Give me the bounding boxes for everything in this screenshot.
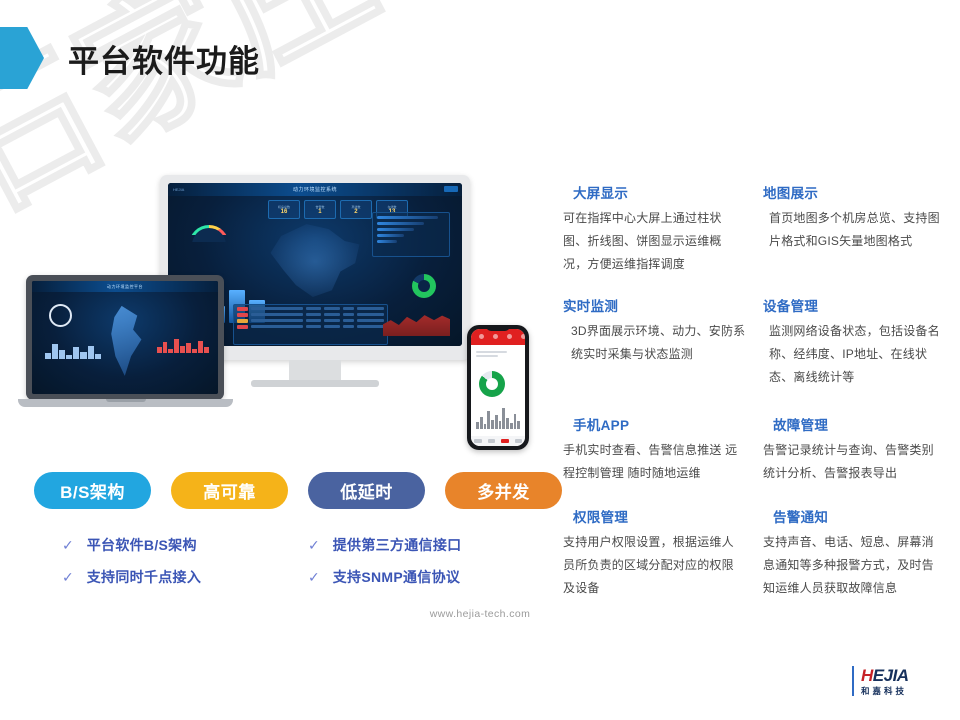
device-mockups: HEJIA 动力环境监控系统 机房总数 16 告警数 1 [10,175,550,460]
logo-wordmark: HEJIA [861,667,909,684]
feature-body: 首页地图多个机房总览、支持图片格式和GIS矢量地图格式 [769,207,947,253]
feature-column-right: 地图展示 首页地图多个机房总览、支持图片格式和GIS矢量地图格式 设备管理 监测… [763,182,953,609]
pill-label: 高可靠 [203,478,256,503]
website-url: www.hejia-tech.com [0,608,960,620]
check-icon: ✓ [62,538,74,552]
dashboard-fullscreen-button[interactable] [444,186,458,192]
kpi-value: 2 [354,209,357,215]
arrow-marker-icon [0,27,44,89]
app-line-chart [476,407,520,429]
checklist-label: 平台软件B/S架构 [87,535,197,555]
feature-title: 手机APP [573,414,763,434]
app-donut-chart [479,371,505,397]
feature-body: 监测网络设备状态，包括设备名称、经纬度、IP地址、在线状态、离线统计等 [769,320,947,389]
table-row [237,325,384,329]
checklist-label: 支持同时千点接入 [87,567,201,587]
region-map-graphic [101,306,153,376]
company-logo: HEJIA 和嘉科技 [852,666,909,696]
feature-column-left: 大屏显示 可在指挥中心大屏上通过柱状图、折线图、饼图显示运维概况，方便运维指挥调… [563,182,763,609]
list-item: ✓ 支持SNMP通信协议 [308,567,522,587]
feature-title: 实时监测 [563,295,763,315]
app-info-rows [476,351,520,359]
dashboard-title: 动力环境监控系统 [293,186,337,193]
pill-label: 低延时 [340,478,393,503]
feature-columns: 大屏显示 可在指挥中心大屏上通过柱状图、折线图、饼图显示运维概况，方便运维指挥调… [563,182,953,609]
check-icon: ✓ [308,538,320,552]
china-map-graphic [262,219,368,304]
feature-alarm-notification: 告警通知 支持声音、电话、短息、屏幕消息通知等多种报警方式，及时告知运维人员获取… [763,506,953,600]
dashboard-title: 动力环境监控平台 [107,284,143,290]
feature-title: 告警通知 [773,506,953,526]
list-item: ✓ 平台软件B/S架构 [62,535,276,555]
dashboard-laptop: 动力环境监控平台 [32,281,218,394]
alarm-trend-chart [157,338,209,354]
slide-header: 平台软件功能 [0,28,260,88]
feature-fault-management: 故障管理 告警记录统计与查询、告警类别统计分析、告警报表导出 [763,414,953,497]
logo-text: HEJIA 和嘉科技 [861,667,909,696]
slide-root: 石家庄和嘉科技有限公司 平台软件功能 HEJIA 动力环境监控系统 [0,0,960,720]
app-header [471,329,525,345]
ring-gauge [49,304,72,327]
feature-body: 告警记录统计与查询、告警类别统计分析、告警报表导出 [763,439,941,485]
donut-chart [412,274,436,298]
feature-body: 3D界面展示环境、动力、安防系统实时采集与状态监测 [571,320,751,366]
pill-label: B/S架构 [60,478,125,503]
histogram-chart [45,340,101,359]
smartphone [467,325,529,450]
laptop-screen: 动力环境监控平台 [32,281,218,394]
table-row [237,307,384,311]
feature-body: 支持用户权限设置，根据运维人员所负责的区域分配对应的权限及设备 [563,531,743,600]
feature-body: 手机实时查看、告警信息推送 远程控制管理 随时随地运维 [563,439,743,485]
feature-title: 大屏显示 [573,182,763,202]
feature-map-display: 地图展示 首页地图多个机房总览、支持图片格式和GIS矢量地图格式 [763,182,953,286]
list-item: ✓ 支持同时千点接入 [62,567,276,587]
list-item: ✓ 提供第三方通信接口 [308,535,522,555]
app-tabbar[interactable] [471,436,525,446]
feature-title: 地图展示 [763,182,953,202]
dashboard-topbar: 动力环境监控平台 [32,281,218,292]
feature-mobile-app: 手机APP 手机实时查看、告警信息推送 远程控制管理 随时随地运维 [563,414,763,497]
ranking-panel [372,212,450,256]
phone-notch [486,325,510,331]
feature-pills: B/S架构 高可靠 低延时 多并发 [34,472,562,509]
kpi-value: 16 [281,209,288,215]
pill-bs-architecture[interactable]: B/S架构 [34,472,151,509]
monitor-stand [289,360,341,382]
phone-screen [471,329,525,446]
check-icon: ✓ [62,570,74,584]
feature-title: 故障管理 [773,414,953,434]
pill-low-latency[interactable]: 低延时 [308,472,425,509]
laptop-notch [106,399,146,402]
feature-body: 支持声音、电话、短息、屏幕消息通知等多种报警方式，及时告知运维人员获取故障信息 [763,531,941,600]
logo-rest-letters: EJIA [873,666,909,685]
kpi-card: 机房总数 16 [268,200,300,219]
area-chart [383,307,451,336]
kpi-value: 1 [318,209,321,215]
kpi-card: 告警数 1 [304,200,336,219]
pill-high-concurrency[interactable]: 多并发 [445,472,562,509]
monitor-base [251,380,379,387]
page-title: 平台软件功能 [68,36,260,81]
table-row [237,319,384,323]
feature-title: 设备管理 [763,295,953,315]
logo-divider [852,666,854,696]
gauge-chart [189,225,229,245]
logo-subtitle: 和嘉科技 [861,687,909,696]
check-icon: ✓ [308,570,320,584]
pill-label: 多并发 [477,478,530,503]
alarm-table [233,304,388,345]
checklist-label: 支持SNMP通信协议 [333,567,460,587]
feature-big-screen: 大屏显示 可在指挥中心大屏上通过柱状图、折线图、饼图显示运维概况，方便运维指挥调… [563,182,763,286]
laptop: 动力环境监控平台 [18,275,233,420]
table-row [237,313,384,317]
feature-realtime-monitoring: 实时监测 3D界面展示环境、动力、安防系统实时采集与状态监测 [563,295,763,405]
dashboard-logo: HEJIA [173,187,184,192]
dashboard-topbar: HEJIA 动力环境监控系统 [168,183,462,196]
checklist: ✓ 平台软件B/S架构 ✓ 提供第三方通信接口 ✓ 支持同时千点接入 ✓ 支持S… [62,535,522,587]
laptop-lid: 动力环境监控平台 [26,275,224,400]
kpi-card: 离线数 2 [340,200,372,219]
feature-permission-management: 权限管理 支持用户权限设置，根据运维人员所负责的区域分配对应的权限及设备 [563,506,763,600]
pill-high-reliability[interactable]: 高可靠 [171,472,288,509]
feature-device-management: 设备管理 监测网络设备状态，包括设备名称、经纬度、IP地址、在线状态、离线统计等 [763,295,953,405]
feature-title: 权限管理 [573,506,763,526]
checklist-label: 提供第三方通信接口 [333,535,462,555]
feature-body: 可在指挥中心大屏上通过柱状图、折线图、饼图显示运维概况，方便运维指挥调度 [563,207,743,276]
logo-h-letter: H [861,666,873,685]
